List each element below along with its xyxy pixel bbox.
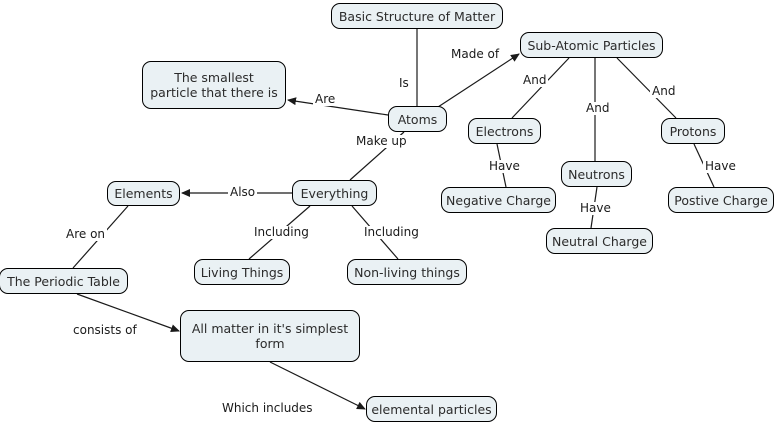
edge-label-e_elements_periodic: Are on: [64, 228, 107, 241]
concept-node-label: Sub-Atomic Particles: [527, 38, 655, 53]
concept-node-label: Neutrons: [568, 167, 625, 182]
edge-label-e_everything_elements: Also: [228, 186, 257, 199]
concept-node-label: Neutral Charge: [552, 234, 647, 249]
concept-node-label: Elements: [114, 186, 172, 201]
concept-node-label: Negative Charge: [446, 193, 551, 208]
concept-node-label: Basic Structure of Matter: [339, 9, 495, 24]
concept-node-basic_structure[interactable]: Basic Structure of Matter: [331, 3, 503, 29]
edge-e_sub_electrons: [512, 58, 569, 118]
edge-label-e_electrons_negative: Have: [487, 160, 522, 173]
concept-node-elemental[interactable]: elemental particles: [366, 396, 497, 422]
concept-node-all_matter[interactable]: All matter in it's simplest form: [180, 310, 360, 362]
concept-node-living_things[interactable]: Living Things: [194, 259, 290, 285]
edge-label-e_everything_nonliving: Including: [362, 226, 421, 239]
edge-layer: [0, 0, 775, 426]
concept-node-smallest[interactable]: The smallest particle that there is: [142, 61, 286, 109]
edge-label-e_neutrons_neutral: Have: [578, 202, 613, 215]
concept-node-elements[interactable]: Elements: [107, 181, 180, 206]
concept-node-label: elemental particles: [371, 402, 491, 417]
concept-node-postive_charge[interactable]: Postive Charge: [668, 187, 774, 213]
concept-node-label: Everything: [301, 186, 369, 201]
concept-node-label: Atoms: [398, 112, 438, 127]
concept-node-protons[interactable]: Protons: [661, 118, 725, 144]
edge-label-e_sub_neutrons: And: [584, 102, 611, 115]
concept-node-neutrons[interactable]: Neutrons: [561, 161, 632, 187]
concept-node-label: Postive Charge: [674, 193, 768, 208]
edge-e_atoms_sub: [438, 54, 519, 107]
concept-node-sub_atomic[interactable]: Sub-Atomic Particles: [520, 32, 663, 58]
concept-node-label: All matter in it's simplest form: [187, 321, 353, 351]
concept-node-label: Non-living things: [354, 265, 460, 280]
concept-node-negative_charge[interactable]: Negative Charge: [441, 187, 556, 213]
concept-node-everything[interactable]: Everything: [292, 180, 377, 206]
concept-node-label: Electrons: [476, 124, 534, 139]
concept-node-label: The smallest particle that there is: [149, 70, 279, 100]
edge-label-e_basic_atoms: Is: [397, 77, 411, 90]
edge-label-e_sub_protons: And: [650, 85, 677, 98]
edge-label-e_sub_electrons: And: [521, 74, 548, 87]
concept-node-label: Living Things: [201, 265, 284, 280]
edge-label-e_everything_living: Including: [252, 226, 311, 239]
concept-node-periodic_table[interactable]: The Periodic Table: [0, 268, 128, 294]
edge-label-e_atoms_smallest: Are: [313, 93, 337, 106]
edge-label-e_periodic_allmatter: consists of: [71, 324, 139, 337]
concept-node-atoms[interactable]: Atoms: [388, 106, 447, 132]
edge-label-e_atoms_everything: Make up: [354, 135, 409, 148]
edge-label-e_allmatter_elemental: Which includes: [220, 402, 315, 415]
concept-node-label: Protons: [670, 124, 717, 139]
concept-node-label: The Periodic Table: [7, 274, 120, 289]
concept-node-neutral_charge[interactable]: Neutral Charge: [546, 228, 653, 254]
edge-label-e_atoms_sub: Made of: [449, 48, 501, 61]
edge-label-e_protons_positive: Have: [703, 160, 738, 173]
concept-node-electrons[interactable]: Electrons: [468, 118, 541, 144]
concept-node-non_living[interactable]: Non-living things: [347, 259, 467, 285]
concept-map-canvas: Basic Structure of MatterSub-Atomic Part…: [0, 0, 775, 426]
edge-e_atoms_smallest: [288, 100, 388, 115]
